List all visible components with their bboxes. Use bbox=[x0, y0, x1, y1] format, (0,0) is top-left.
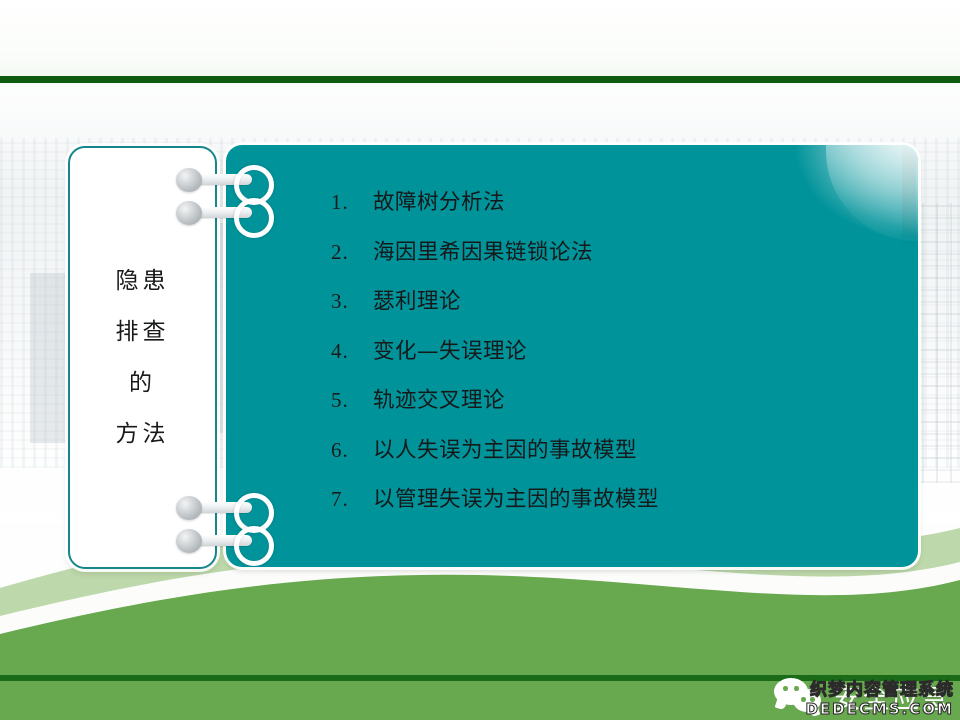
binder-ring bbox=[176, 196, 266, 229]
watermark-english: DEDECMS.COM bbox=[805, 700, 954, 718]
site-watermark: 织梦内容管理系统 DEDECMS.COM bbox=[805, 681, 954, 718]
list-item-label: 轨迹交叉理论 bbox=[373, 383, 505, 414]
list-item-number: 3. bbox=[331, 289, 373, 314]
binder-loop-icon bbox=[234, 526, 274, 566]
binder-knob bbox=[176, 201, 202, 225]
wechat-eye bbox=[783, 686, 788, 691]
list-item: 7. 以管理失误为主因的事故模型 bbox=[331, 482, 898, 532]
list-item-label: 瑟利理论 bbox=[373, 284, 461, 315]
list-item-label: 故障树分析法 bbox=[373, 185, 505, 216]
list-item-label: 以人失误为主因的事故模型 bbox=[373, 433, 637, 464]
list-item-number: 4. bbox=[331, 339, 373, 364]
list-item-number: 1. bbox=[331, 190, 373, 215]
method-list: 1. 故障树分析法 2. 海因里希因果链锁论法 3. 瑟利理论 4. 变化—失误… bbox=[331, 185, 898, 532]
wechat-eye bbox=[794, 686, 799, 691]
list-item-number: 2. bbox=[331, 240, 373, 265]
title-line: 隐患 bbox=[116, 256, 170, 307]
title-line: 方法 bbox=[116, 409, 170, 460]
list-item-number: 5. bbox=[331, 388, 373, 413]
sky-background bbox=[0, 0, 960, 82]
binder-knob bbox=[176, 496, 202, 520]
list-item-label: 海因里希因果链锁论法 bbox=[373, 235, 593, 266]
binder-ring bbox=[176, 491, 266, 524]
list-item-number: 6. bbox=[331, 438, 373, 463]
binder-knob bbox=[176, 168, 202, 192]
slide: 1. 故障树分析法 2. 海因里希因果链锁论法 3. 瑟利理论 4. 变化—失误… bbox=[0, 0, 960, 720]
binder-knob bbox=[176, 529, 202, 553]
title-card-text: 隐患 排查 的 方法 bbox=[116, 256, 170, 460]
list-item: 5. 轨迹交叉理论 bbox=[331, 383, 898, 433]
binder-loop-icon bbox=[234, 198, 274, 238]
binder-ring bbox=[176, 524, 266, 557]
content-panel: 1. 故障树分析法 2. 海因里希因果链锁论法 3. 瑟利理论 4. 变化—失误… bbox=[226, 145, 918, 567]
top-green-rule bbox=[0, 76, 960, 83]
binder-ring bbox=[176, 163, 266, 196]
list-item: 4. 变化—失误理论 bbox=[331, 334, 898, 384]
list-item: 3. 瑟利理论 bbox=[331, 284, 898, 334]
list-item: 6. 以人失误为主因的事故模型 bbox=[331, 433, 898, 483]
binder-rings-top bbox=[176, 163, 266, 229]
watermark-chinese: 织梦内容管理系统 bbox=[805, 681, 954, 700]
list-item: 2. 海因里希因果链锁论法 bbox=[331, 235, 898, 285]
panel-edge-shade bbox=[902, 147, 916, 247]
binder-rings-bottom bbox=[176, 491, 266, 557]
title-line: 的 bbox=[116, 358, 170, 409]
title-line: 排查 bbox=[116, 307, 170, 358]
list-item-label: 以管理失误为主因的事故模型 bbox=[373, 482, 659, 513]
list-item: 1. 故障树分析法 bbox=[331, 185, 898, 235]
list-item-label: 变化—失误理论 bbox=[373, 334, 527, 365]
list-item-number: 7. bbox=[331, 487, 373, 512]
